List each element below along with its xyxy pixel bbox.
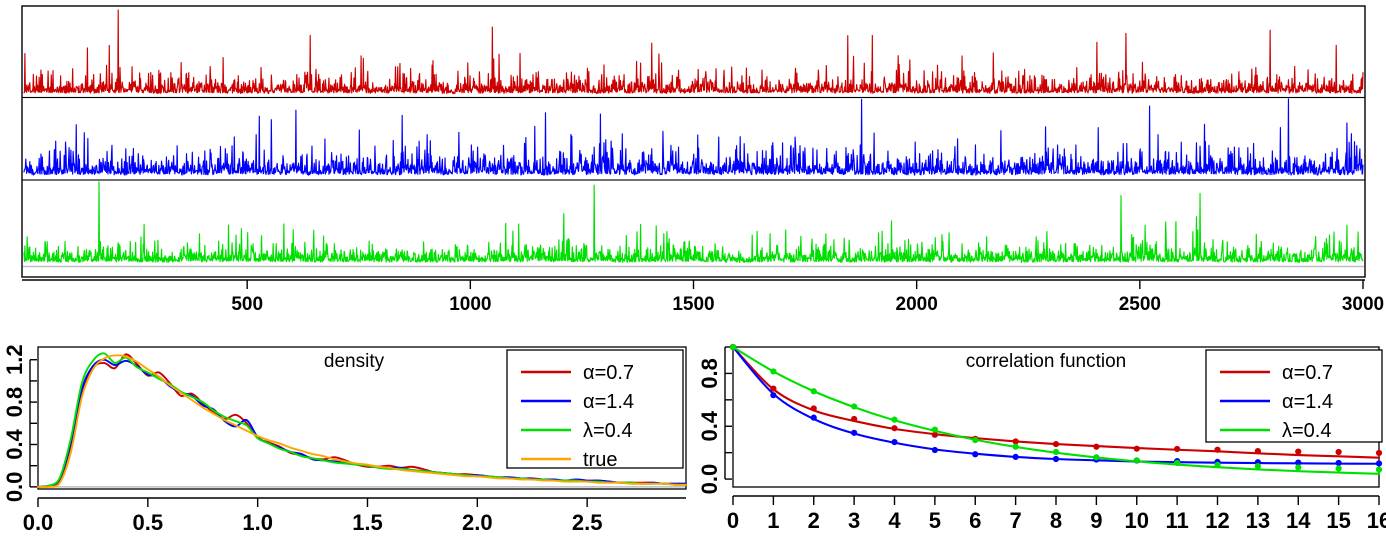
correlation-point xyxy=(811,415,817,421)
timeseries-xaxis-label: 2000 xyxy=(896,294,938,315)
correlation-point xyxy=(1376,450,1382,456)
correlation-yaxis-label: 0.0 xyxy=(697,464,722,495)
correlation-point xyxy=(1214,462,1220,468)
correlation-legend-label-0: α=0.7 xyxy=(1282,362,1333,384)
correlation-yaxis-label: 0.4 xyxy=(697,410,722,441)
density-title: density xyxy=(324,351,385,372)
correlation-point xyxy=(770,392,776,398)
density-xaxis-label: 0.5 xyxy=(133,510,164,535)
correlation-point xyxy=(1376,466,1382,472)
correlation-legend-label-2: λ=0.4 xyxy=(1282,420,1331,442)
density-xaxis-label: 2.0 xyxy=(462,510,493,535)
correlation-title: correlation function xyxy=(966,351,1127,372)
correlation-xaxis-label: 11 xyxy=(1165,508,1188,533)
correlation-point xyxy=(972,437,978,443)
correlation-xaxis-label: 4 xyxy=(888,508,901,533)
density-yaxis-label: 1.2 xyxy=(2,344,27,375)
timeseries-xaxis-label: 2500 xyxy=(1119,294,1161,315)
correlation-point xyxy=(1053,441,1059,447)
density-legend-label-2: λ=0.4 xyxy=(583,420,632,442)
correlation-point xyxy=(1053,449,1059,455)
correlation-xaxis-label: 14 xyxy=(1286,508,1311,533)
correlation-xaxis-label: 0 xyxy=(727,508,739,533)
correlation-xaxis-label: 8 xyxy=(1050,508,1062,533)
correlation-point xyxy=(1336,449,1342,455)
correlation-point xyxy=(1013,444,1019,450)
correlation-point xyxy=(932,432,938,438)
correlation-xaxis-label: 15 xyxy=(1326,508,1350,533)
correlation-point xyxy=(972,451,978,457)
correlation-xaxis-label: 9 xyxy=(1090,508,1102,533)
correlation-point xyxy=(1336,465,1342,471)
correlation-xaxis-label: 2 xyxy=(808,508,820,533)
correlation-xaxis-label: 5 xyxy=(929,508,941,533)
timeseries-xaxis-label: 1500 xyxy=(672,294,714,315)
correlation-point xyxy=(891,439,897,445)
correlation-point xyxy=(851,430,857,436)
density-xaxis-label: 1.0 xyxy=(242,510,273,535)
correlation-point xyxy=(730,344,736,350)
density-legend-label-3: true xyxy=(583,449,617,471)
correlation-point xyxy=(1376,460,1382,466)
density-xaxis-label: 0.0 xyxy=(23,510,54,535)
correlation-point xyxy=(932,426,938,432)
correlation-point xyxy=(770,386,776,392)
correlation-xaxis-label: 7 xyxy=(1010,508,1022,533)
correlation-xaxis-label: 12 xyxy=(1205,508,1229,533)
correlation-xaxis-label: 3 xyxy=(848,508,860,533)
correlation-point xyxy=(891,417,897,423)
timeseries-xaxis-label: 1000 xyxy=(449,294,491,315)
correlation-point xyxy=(1336,460,1342,466)
correlation-point xyxy=(1134,446,1140,452)
timeseries-xaxis-label: 500 xyxy=(231,294,263,315)
correlation-point xyxy=(811,405,817,411)
correlation-point xyxy=(1013,438,1019,444)
correlation-point xyxy=(1255,448,1261,454)
correlation-point xyxy=(1013,454,1019,460)
density-legend-label-1: α=1.4 xyxy=(583,391,634,413)
density-legend-label-0: α=0.7 xyxy=(583,362,634,384)
correlation-point xyxy=(1093,454,1099,460)
correlation-point xyxy=(1295,464,1301,470)
correlation-xaxis-label: 10 xyxy=(1125,508,1149,533)
timeseries-line-alpha07 xyxy=(24,10,1363,94)
timeseries-xaxis-label: 3000 xyxy=(1342,294,1384,315)
correlation-legend-label-1: α=1.4 xyxy=(1282,391,1333,413)
correlation-point xyxy=(1134,457,1140,463)
correlation-point xyxy=(851,403,857,409)
correlation-point xyxy=(1174,446,1180,452)
figure-canvas: 500100015002000250030000.00.40.81.20.00.… xyxy=(0,0,1386,554)
density-xaxis-label: 2.5 xyxy=(572,510,603,535)
density-xaxis-label: 1.5 xyxy=(352,510,383,535)
timeseries-plot-box xyxy=(22,6,1365,277)
figure-root: 500100015002000250030000.00.40.81.20.00.… xyxy=(0,0,1386,554)
correlation-point xyxy=(1174,460,1180,466)
correlation-point xyxy=(770,368,776,374)
correlation-xaxis-label: 13 xyxy=(1246,508,1270,533)
density-yaxis-label: 0.4 xyxy=(2,428,27,459)
correlation-point xyxy=(932,447,938,453)
correlation-point xyxy=(811,388,817,394)
correlation-point xyxy=(851,416,857,422)
timeseries-line-lambda04 xyxy=(24,182,1363,262)
correlation-point xyxy=(1255,463,1261,469)
correlation-yaxis-label: 0.8 xyxy=(697,358,722,389)
correlation-xaxis-label: 16 xyxy=(1367,508,1386,533)
density-yaxis-label: 0.8 xyxy=(2,387,27,418)
correlation-point xyxy=(1093,444,1099,450)
density-yaxis-label: 0.0 xyxy=(2,472,27,503)
correlation-point xyxy=(1053,456,1059,462)
correlation-point xyxy=(1214,447,1220,453)
timeseries-line-alpha14 xyxy=(24,99,1363,175)
correlation-point xyxy=(1295,449,1301,455)
correlation-xaxis-label: 1 xyxy=(767,508,779,533)
correlation-xaxis-label: 6 xyxy=(969,508,981,533)
correlation-point xyxy=(891,425,897,431)
